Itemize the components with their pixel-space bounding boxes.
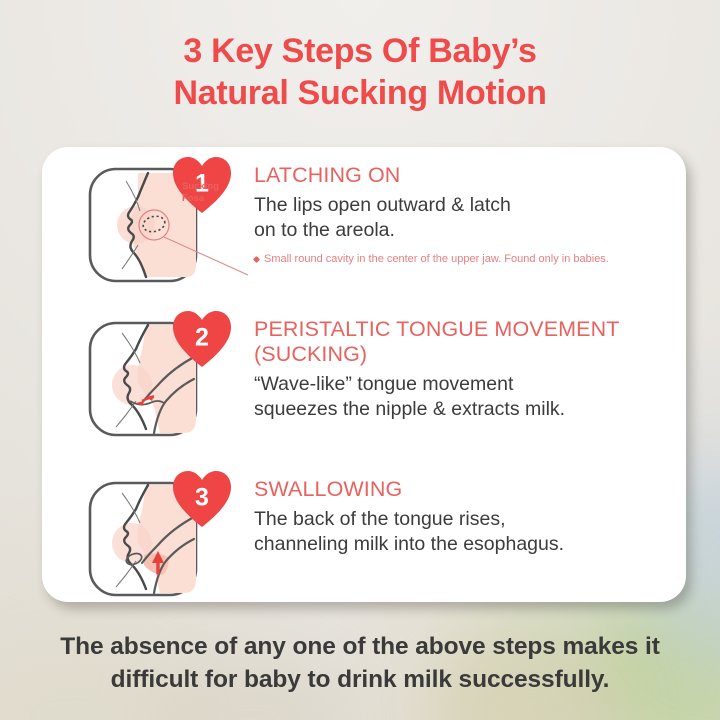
- step-item-1: 1 Sucking Fosa LATCHING ON The lips open…: [42, 155, 686, 307]
- step-note-1: Small round cavity in the center of the …: [254, 252, 672, 266]
- step-badge-3: 3: [171, 469, 233, 529]
- step-number-2: 2: [195, 324, 209, 352]
- steps-list: 1 Sucking Fosa LATCHING ON The lips open…: [42, 147, 686, 602]
- step-text-2: PERISTALTIC TONGUE MOVEMENT (SUCKING) “W…: [254, 317, 672, 422]
- step-item-2: 2 PERISTALTIC TONGUE MOVEMENT (SUCKING) …: [42, 309, 686, 461]
- diagram-label-line-2: Fosa: [182, 193, 219, 205]
- footer-note: The absence of any one of the above step…: [0, 630, 720, 696]
- step-heading-2: PERISTALTIC TONGUE MOVEMENT (SUCKING): [254, 317, 672, 367]
- note-marker-icon: [253, 255, 260, 262]
- page-title: 3 Key Steps Of Baby’s Natural Sucking Mo…: [0, 30, 720, 114]
- step-text-3: SWALLOWING The back of the tongue rises,…: [254, 477, 672, 557]
- step-text-1: LATCHING ON The lips open outward & latc…: [254, 163, 672, 266]
- title-line-2: Natural Sucking Motion: [0, 72, 720, 114]
- step-body-3: The back of the tongue rises, channeling…: [254, 507, 672, 557]
- infographic-poster: 3 Key Steps Of Baby’s Natural Sucking Mo…: [0, 0, 720, 720]
- title-line-1: 3 Key Steps Of Baby’s: [0, 30, 720, 72]
- step-note-text-1: Small round cavity in the center of the …: [264, 252, 609, 266]
- step-badge-2: 2: [171, 309, 233, 369]
- step-item-3: 3 SWALLOWING The back of the tongue rise…: [42, 469, 686, 609]
- step-heading-3: SWALLOWING: [254, 477, 672, 502]
- diagram-label-sucking-fosa: Sucking Fosa: [182, 181, 219, 204]
- step-heading-1: LATCHING ON: [254, 163, 672, 188]
- step-body-2: “Wave-like” tongue movement squeezes the…: [254, 372, 672, 422]
- footer-line-1: The absence of any one of the above step…: [0, 630, 720, 663]
- steps-card: 1 Sucking Fosa LATCHING ON The lips open…: [42, 147, 686, 602]
- step-number-3: 3: [195, 484, 209, 512]
- diagram-label-line-1: Sucking: [182, 181, 219, 193]
- step-body-1: The lips open outward & latch on to the …: [254, 193, 672, 243]
- footer-line-2: difficult for baby to drink milk success…: [0, 663, 720, 696]
